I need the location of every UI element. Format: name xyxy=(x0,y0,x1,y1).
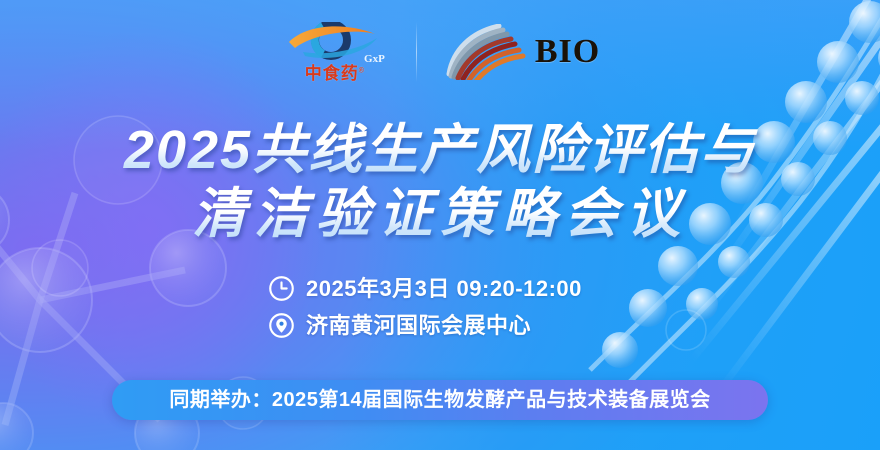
location-pin-icon xyxy=(268,312,295,339)
logo-row: GxP 中食药® BIO xyxy=(0,22,880,82)
event-details: 2025年3月3日 09:20-12:00 济南黄河国际会展中心 xyxy=(268,275,582,339)
gxp-abbr: GxP xyxy=(364,53,385,65)
title-line-1: 2025共线生产风险评估与 xyxy=(0,118,880,182)
event-location-row: 济南黄河国际会展中心 xyxy=(268,312,582,339)
logo-divider xyxy=(416,22,417,82)
gxp-globe-swoosh-logo: GxP xyxy=(283,22,387,64)
registered-mark: ® xyxy=(359,67,365,74)
event-location-text: 济南黄河国际会展中心 xyxy=(306,315,531,337)
conference-banner: GxP 中食药® BIO 2025共线生产风险评估与 清洁验证 xyxy=(0,0,880,450)
gxp-logo: GxP 中食药® xyxy=(280,22,390,82)
concurrent-event-pill: 同期举办：2025第14届国际生物发酵产品与技术装备展览会 xyxy=(112,380,768,420)
bio-wordmark: BIO xyxy=(535,35,600,69)
gxp-chinese-name: 中食药® xyxy=(305,65,365,82)
clock-icon xyxy=(268,275,295,302)
title-line-2: 清洁验证策略会议 xyxy=(0,182,880,246)
concurrent-event-text: 同期举办：2025第14届国际生物发酵产品与技术装备展览会 xyxy=(169,390,710,410)
bio-fermentation-swoosh-logo xyxy=(443,24,531,80)
gxp-chinese-text: 中食药 xyxy=(305,64,359,83)
event-datetime-row: 2025年3月3日 09:20-12:00 xyxy=(268,275,582,302)
page-title: 2025共线生产风险评估与 清洁验证策略会议 xyxy=(0,118,880,246)
bio-logo: BIO xyxy=(443,24,600,80)
event-datetime-text: 2025年3月3日 09:20-12:00 xyxy=(306,278,582,300)
